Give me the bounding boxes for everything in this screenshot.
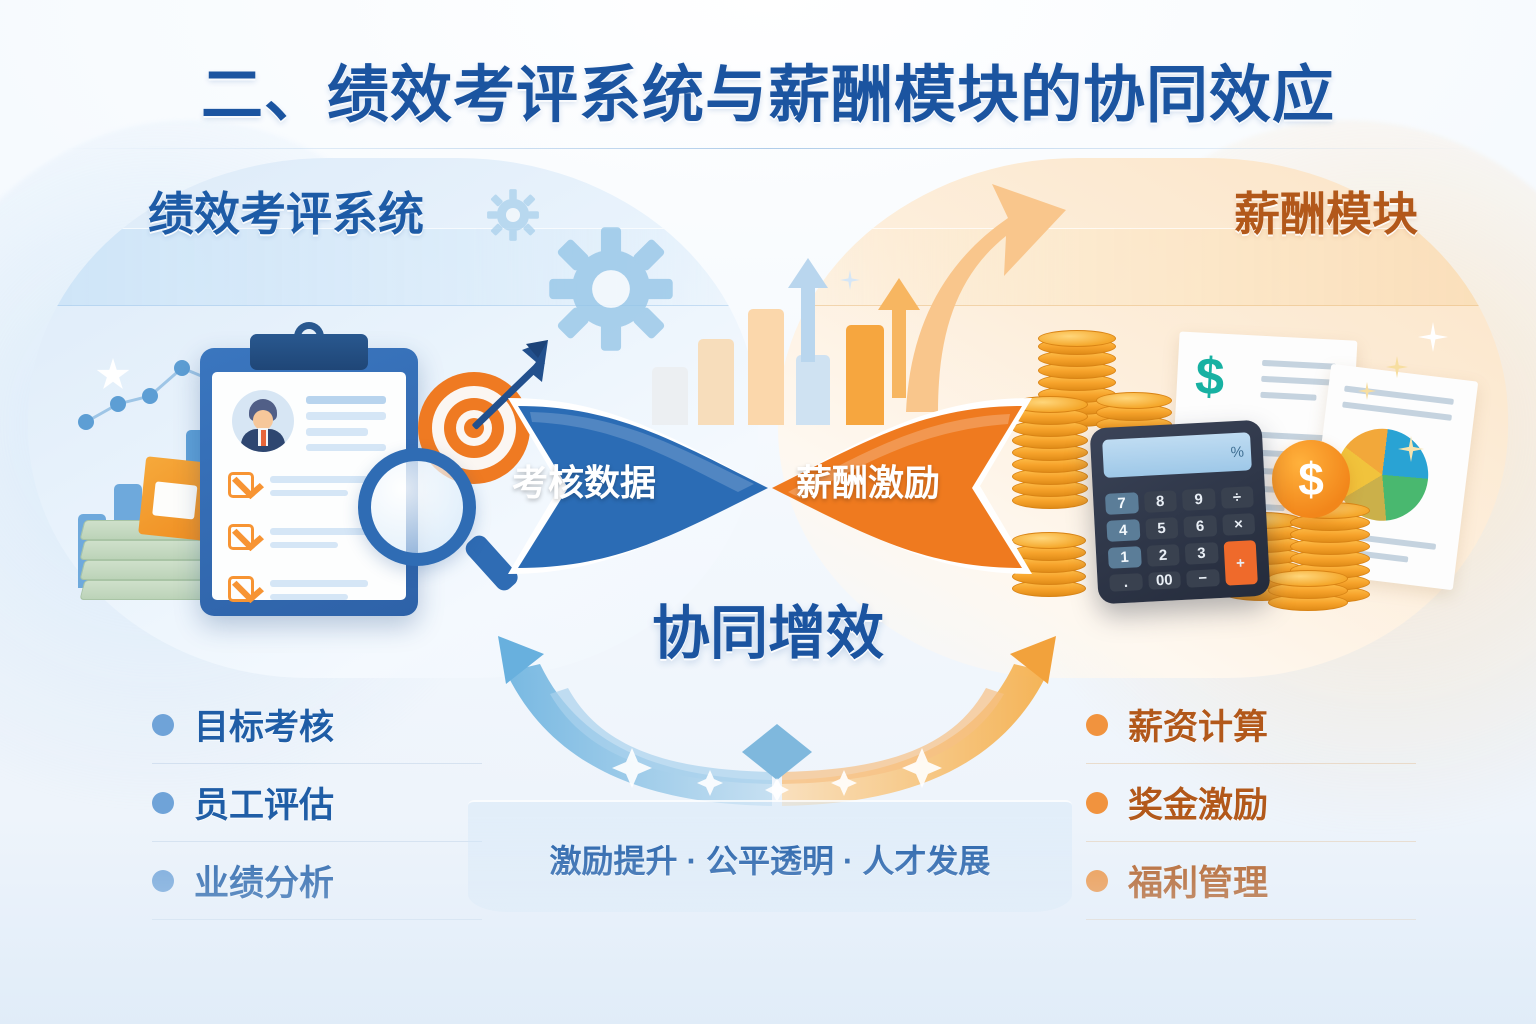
calculator-key[interactable]: 3 (1185, 542, 1219, 565)
calculator-key[interactable]: 9 (1182, 488, 1216, 511)
list-item[interactable]: 薪资计算 (1086, 686, 1416, 764)
list-item-label: 目标考核 (194, 699, 334, 750)
flow-arrow-right-label: 薪酬激励 (796, 454, 940, 506)
employee-avatar-icon (232, 390, 294, 452)
title-divider (60, 148, 1476, 149)
calculator-key[interactable]: 5 (1145, 517, 1179, 540)
bidirectional-synergy-arrow (472, 628, 1082, 808)
gear-icon-small (486, 188, 540, 242)
left-panel-heading: 绩效考评系统 (148, 178, 424, 244)
bottom-gradient-haze (0, 814, 1536, 1024)
bullet-dot-icon (1086, 792, 1108, 814)
calculator-key[interactable]: × (1222, 513, 1256, 536)
synergy-flow-arrows: 考核数据 薪酬激励 (470, 392, 1070, 582)
calculator-icon: % 7 8 9 ÷ 4 5 6 × 1 2 3 + . 00 − (1090, 420, 1271, 605)
calculator-keypad: 7 8 9 ÷ 4 5 6 × 1 2 3 + . 00 − (1105, 486, 1258, 592)
calculator-key-plus[interactable]: + (1223, 540, 1258, 586)
list-item[interactable]: 目标考核 (152, 686, 482, 764)
calculator-key[interactable]: 1 (1108, 546, 1142, 569)
calculator-screen: % (1102, 432, 1252, 478)
calculator-key[interactable]: 7 (1105, 492, 1139, 515)
dollar-coin-label: $ (1298, 452, 1324, 506)
bullet-dot-icon (152, 714, 174, 736)
bullet-dot-icon (152, 792, 174, 814)
dollar-sign-icon: $ (1194, 350, 1226, 403)
calculator-key[interactable]: 6 (1183, 515, 1217, 538)
page-title: 二、绩效考评系统与薪酬模块的协同效应 (0, 44, 1536, 134)
calculator-key[interactable]: ÷ (1220, 486, 1254, 509)
list-item-label: 薪资计算 (1128, 699, 1268, 750)
calculator-key[interactable]: 4 (1106, 519, 1140, 542)
calculator-key[interactable]: 8 (1143, 490, 1177, 513)
magnifier-icon (358, 448, 476, 566)
bullet-dot-icon (1086, 714, 1108, 736)
page-title-wrapper: 二、绩效考评系统与薪酬模块的协同效应 (0, 44, 1536, 134)
flow-arrow-left-label: 考核数据 (512, 454, 656, 506)
checkmark-icon (228, 472, 254, 498)
dollar-coin-icon: $ (1272, 440, 1350, 518)
right-panel-heading: 薪酬模块 (1234, 178, 1418, 244)
calculator-screen-value: % (1230, 443, 1244, 461)
clipboard-clamp (250, 334, 368, 370)
checkmark-icon (228, 524, 254, 550)
sparkle-icon-blue (840, 270, 860, 290)
calculator-key[interactable]: 2 (1146, 544, 1180, 567)
infographic-canvas: 二、绩效考评系统与薪酬模块的协同效应 绩效考评系统 薪酬模块 (0, 0, 1536, 1024)
calculator-key[interactable]: − (1186, 569, 1219, 588)
